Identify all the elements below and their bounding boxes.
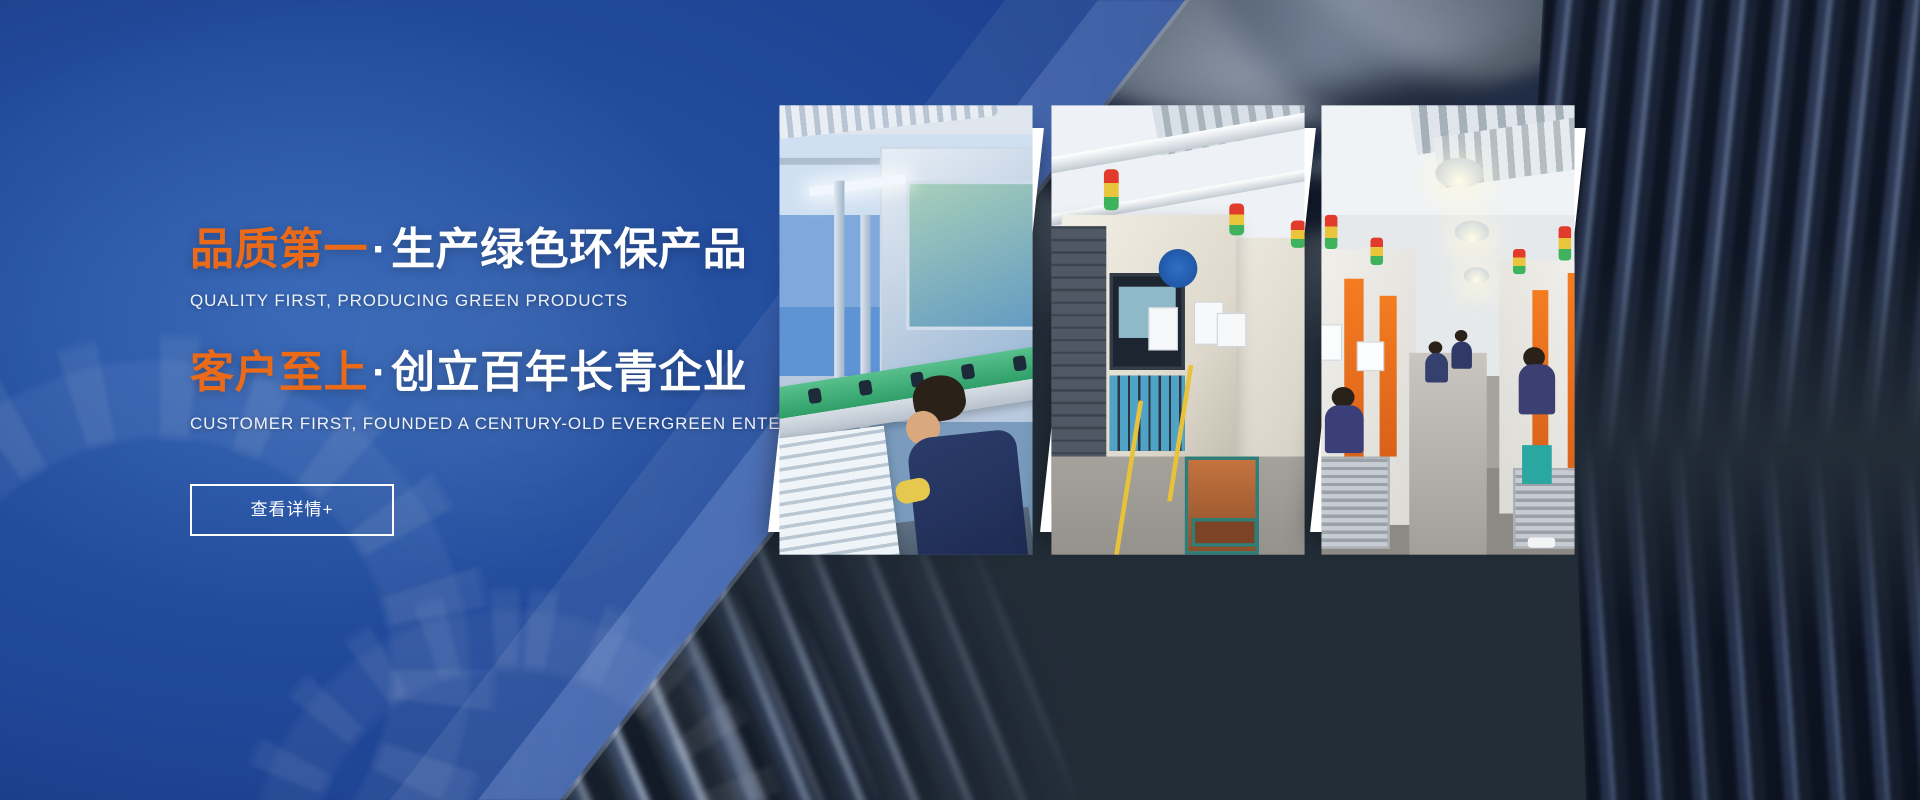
photo-panel-group: [0, 0, 1920, 800]
photo-panel-2[interactable]: [1040, 128, 1316, 532]
hero-banner: 品质第一·生产绿色环保产品 QUALITY FIRST, PRODUCING G…: [0, 0, 1920, 800]
photo-panel-3[interactable]: [1310, 128, 1586, 532]
photo-panel-1[interactable]: [768, 128, 1044, 532]
photo-2-image: [1051, 105, 1304, 554]
photo-3-image: [1321, 105, 1574, 554]
photo-1-image: [779, 105, 1032, 554]
